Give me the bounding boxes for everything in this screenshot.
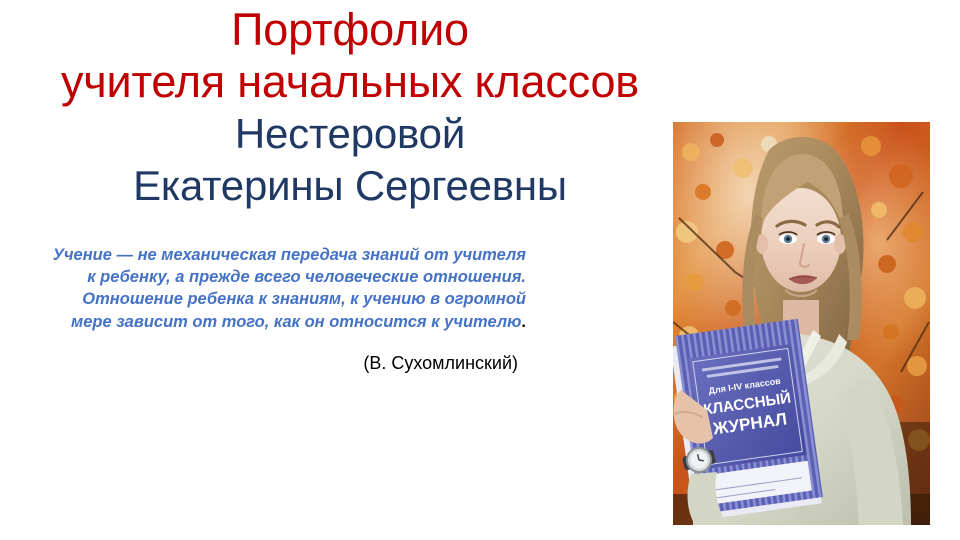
slide-canvas: Портфолио учителя начальных классов Нест… [0, 0, 960, 540]
title-line-portfolio: Портфолио [0, 4, 700, 56]
teacher-photo-image: Для I-IV классов КЛАССНЫЙ ЖУРНАЛ [673, 122, 930, 525]
quote-body: Учение — не механическая передача знаний… [53, 246, 526, 331]
quote-end-punctuation: . [521, 313, 526, 331]
quote-block: Учение — не механическая передача знаний… [44, 244, 526, 375]
title-line-role: учителя начальных классов [0, 56, 700, 108]
page-title: Портфолио учителя начальных классов Нест… [0, 4, 700, 212]
title-line-surname: Нестеровой [0, 108, 700, 160]
quote-text: Учение — не механическая передача знаний… [44, 244, 526, 333]
title-line-firstname-patronymic: Екатерины Сергеевны [0, 160, 700, 212]
teacher-photo: Для I-IV классов КЛАССНЫЙ ЖУРНАЛ [673, 122, 930, 525]
quote-attribution: (В. Сухомлинский) [44, 351, 526, 375]
